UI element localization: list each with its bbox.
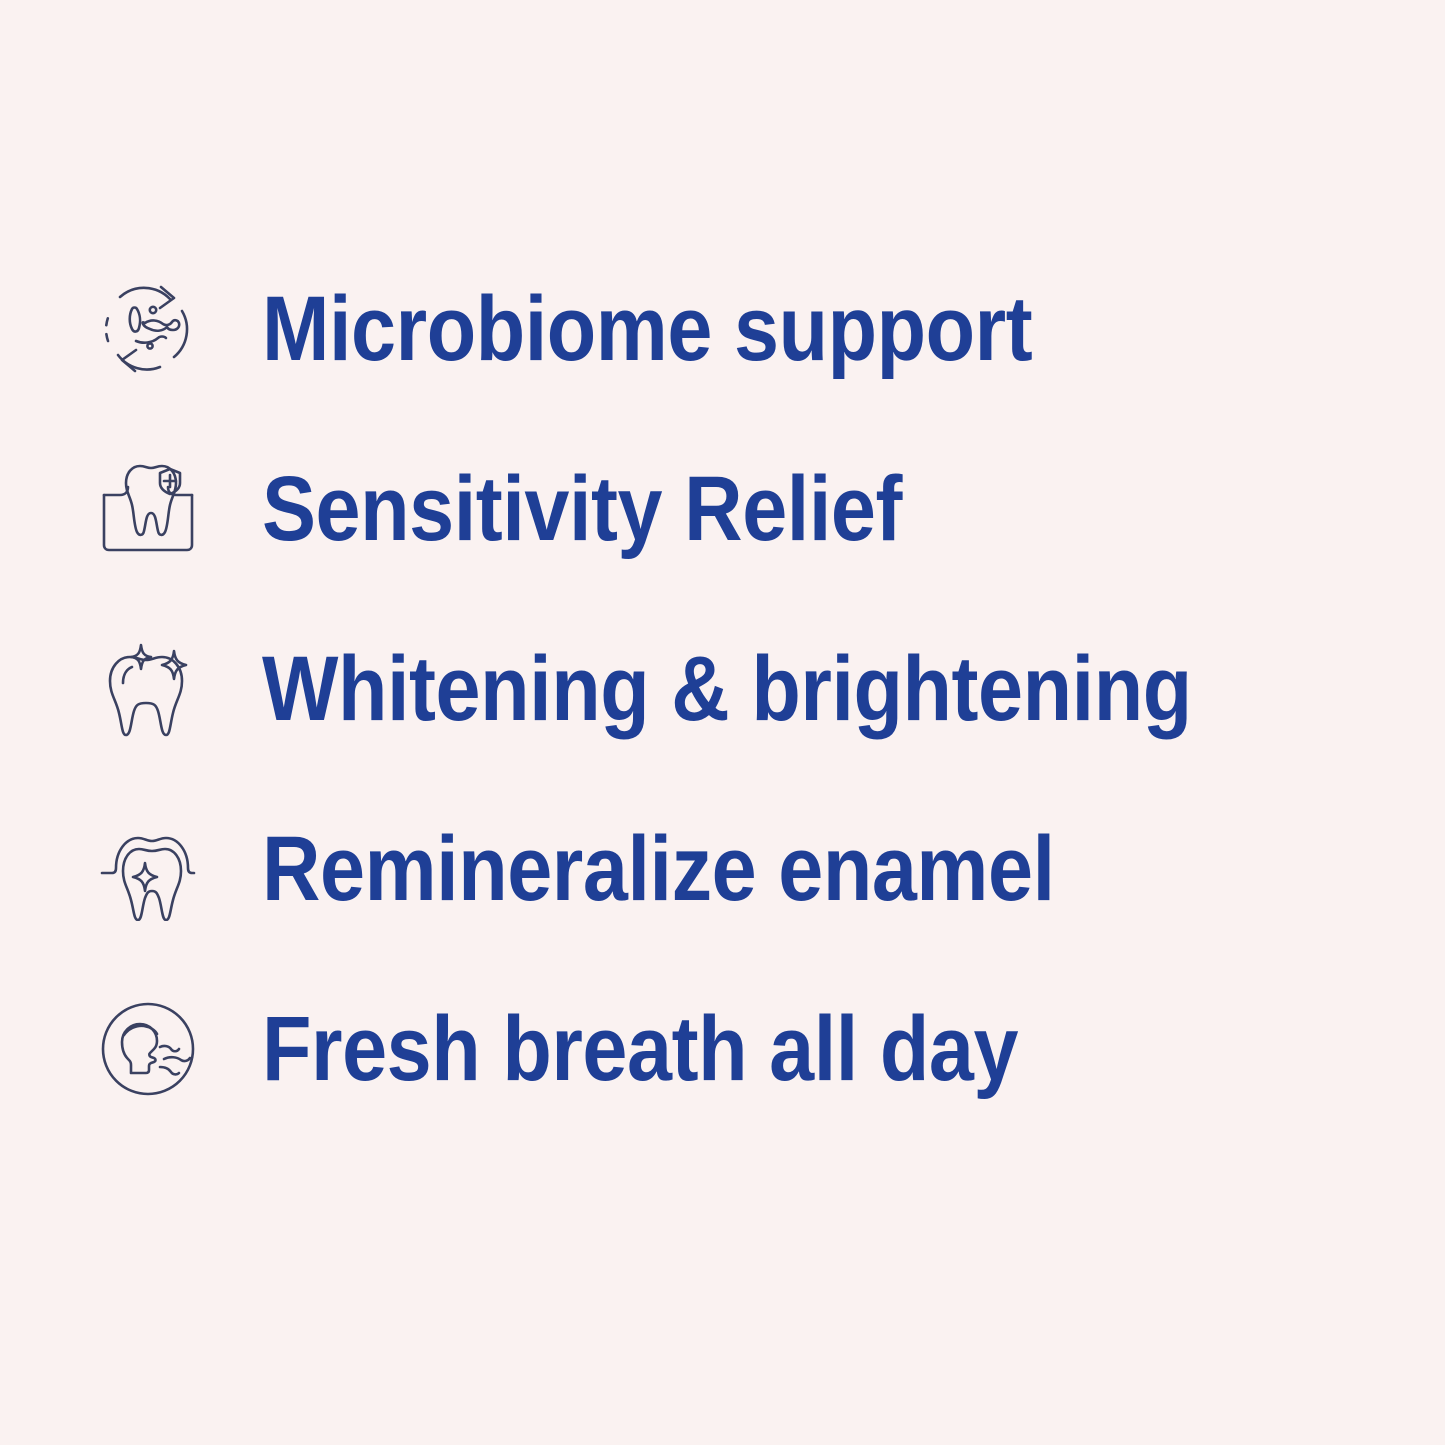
list-item: Microbiome support (96, 268, 1445, 390)
list-item: Whitening & brightening (96, 628, 1445, 750)
benefit-label: Whitening & brightening (262, 643, 1192, 735)
benefits-list: Microbiome support Sensitivity Relief Wh (0, 0, 1445, 1445)
list-item: Remineralize enamel (96, 808, 1445, 930)
list-item: Sensitivity Relief (96, 448, 1445, 570)
tooth-gum-shield-icon (96, 453, 200, 565)
benefit-label: Fresh breath all day (262, 1003, 1018, 1095)
benefit-label: Microbiome support (262, 283, 1032, 375)
benefit-label: Remineralize enamel (262, 823, 1055, 915)
list-item: Fresh breath all day (96, 988, 1445, 1110)
fresh-breath-head-icon (96, 993, 200, 1105)
tooth-enamel-layer-icon (96, 813, 200, 925)
benefit-label: Sensitivity Relief (262, 463, 902, 555)
tooth-sparkles-icon (96, 633, 200, 745)
microbiome-cycle-icon (96, 273, 200, 385)
